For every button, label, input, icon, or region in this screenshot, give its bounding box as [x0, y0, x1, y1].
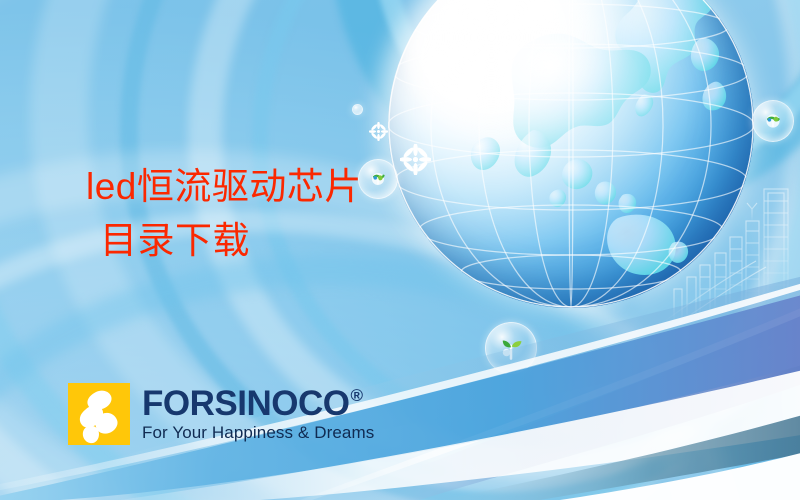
registered-trademark-icon: ®	[350, 386, 362, 406]
mini-globe-icon	[761, 109, 785, 133]
headline-line-1: led恒流驱动芯片	[86, 160, 362, 214]
four-petal-pinwheel-icon	[68, 383, 130, 445]
daisy-flower-small	[369, 122, 388, 141]
promo-banner: led恒流驱动芯片 目录下载 FORSINOCO ® For Your Happ…	[0, 0, 800, 500]
brand-name: FORSINOCO	[142, 386, 349, 422]
bubble-edge	[752, 100, 794, 142]
brand-logo-text: FORSINOCO ® For Your Happiness & Dreams	[142, 386, 374, 443]
bubble-tiny	[352, 104, 363, 115]
daisy-flower-large	[400, 144, 431, 175]
headline-text: led恒流驱动芯片 目录下载	[86, 160, 362, 268]
mini-globe-icon	[367, 168, 389, 190]
brand-name-row: FORSINOCO ®	[142, 386, 374, 422]
pinwheel-petals	[68, 383, 130, 445]
brand-logo[interactable]: FORSINOCO ® For Your Happiness & Dreams	[68, 383, 374, 445]
bottom-ribbon-stripes	[0, 250, 800, 500]
brand-tagline: For Your Happiness & Dreams	[142, 423, 374, 443]
headline-line-2: 目录下载	[86, 214, 362, 268]
bubble-globe	[358, 159, 398, 199]
